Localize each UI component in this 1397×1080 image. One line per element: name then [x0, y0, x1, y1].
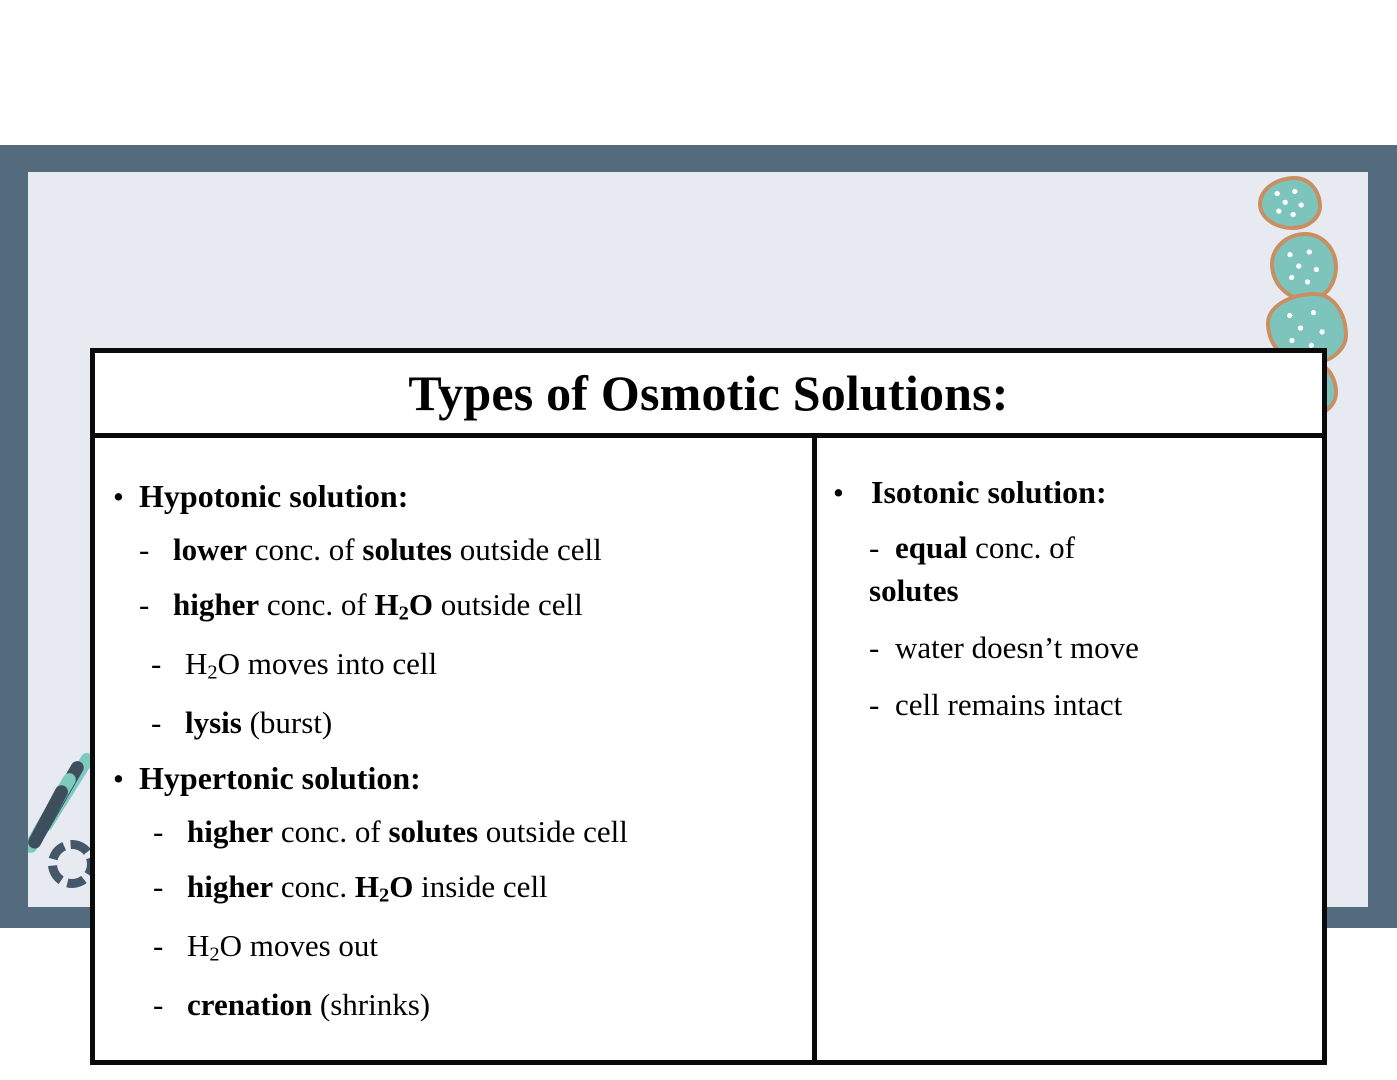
decorative-dashed-ring-icon	[48, 840, 96, 888]
dash-glyph-icon: -	[95, 648, 185, 679]
list-item: •Isotonic solution:	[817, 476, 1322, 508]
list-item: -water doesn’t move	[817, 632, 1322, 663]
list-item-text: higher conc. of solutes outside cell	[187, 816, 628, 847]
list-item: -H2O moves into cell	[95, 648, 812, 683]
list-item: -cell remains intact	[817, 689, 1322, 720]
list-item: -crenation (shrinks)	[95, 989, 812, 1020]
list-item: -higher conc. of solutes outside cell	[95, 816, 812, 847]
dash-glyph-icon: -	[817, 532, 895, 563]
dash-glyph-icon: -	[95, 707, 185, 738]
list-item: -higher conc. H2O inside cell	[95, 871, 812, 906]
dash-glyph-icon: -	[95, 989, 187, 1020]
dash-glyph-icon: -	[95, 871, 187, 902]
bullet-glyph-icon: •	[95, 763, 139, 794]
list-item-wrap-text: solutes	[817, 575, 1322, 606]
list-item-text: H2O moves out	[187, 930, 378, 965]
dash-glyph-icon: -	[95, 589, 173, 620]
list-item-text: Hypotonic solution:	[139, 480, 408, 512]
dash-glyph-icon: -	[95, 930, 187, 961]
list-item-text: Isotonic solution:	[871, 476, 1107, 508]
content-table: Types of Osmotic Solutions: •Hypotonic s…	[90, 348, 1327, 1065]
page-title: Types of Osmotic Solutions:	[408, 368, 1008, 418]
dash-glyph-icon: -	[817, 689, 895, 720]
slide-outer-frame: Types of Osmotic Solutions: •Hypotonic s…	[0, 145, 1397, 928]
table-body-row: •Hypotonic solution:-lower conc. of solu…	[95, 438, 1322, 1060]
list-item-text: water doesn’t move	[895, 632, 1139, 663]
list-item: •Hypertonic solution:	[95, 762, 812, 794]
list-item-text: equal conc. of	[895, 532, 1075, 563]
table-cell-right: •Isotonic solution:-equal conc. ofsolute…	[817, 438, 1322, 1060]
list-item-text: higher conc. of H2O outside cell	[173, 589, 583, 624]
decorative-blob-icon	[1270, 232, 1338, 302]
bullet-glyph-icon: •	[95, 481, 139, 512]
bullet-glyph-icon: •	[817, 477, 871, 508]
list-item: -lysis (burst)	[95, 707, 812, 738]
list-item: -higher conc. of H2O outside cell	[95, 589, 812, 624]
decorative-blob-icon	[1258, 176, 1322, 230]
list-item: -lower conc. of solutes outside cell	[95, 534, 812, 565]
list-item: -H2O moves out	[95, 930, 812, 965]
title-row: Types of Osmotic Solutions:	[95, 353, 1322, 438]
list-item-text: cell remains intact	[895, 689, 1122, 720]
list-item-text: lysis (burst)	[185, 707, 332, 738]
list-item-text: Hypertonic solution:	[139, 762, 421, 794]
list-item-text: H2O moves into cell	[185, 648, 437, 683]
dash-glyph-icon: -	[95, 534, 173, 565]
list-item-text: crenation (shrinks)	[187, 989, 430, 1020]
list-item-text: higher conc. H2O inside cell	[187, 871, 548, 906]
table-cell-left: •Hypotonic solution:-lower conc. of solu…	[95, 438, 817, 1060]
dash-glyph-icon: -	[817, 632, 895, 663]
dash-glyph-icon: -	[95, 816, 187, 847]
list-item: -equal conc. of	[817, 532, 1322, 563]
list-item-text: lower conc. of solutes outside cell	[173, 534, 602, 565]
list-item: •Hypotonic solution:	[95, 480, 812, 512]
